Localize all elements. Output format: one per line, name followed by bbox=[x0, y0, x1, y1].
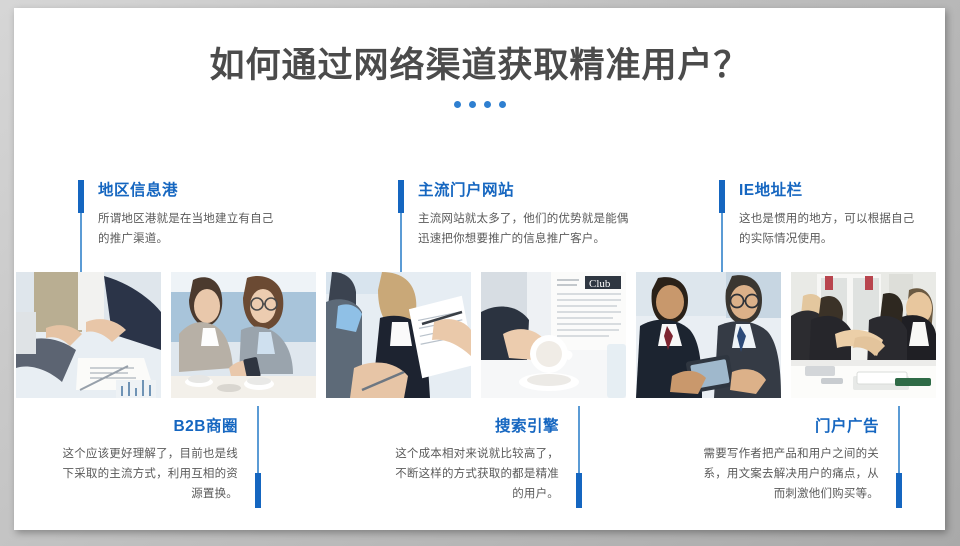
top-item-2-body: 主流网站就太多了，他们的优势就是能偶 迅速把你想要推广的信息推广客户。 bbox=[418, 209, 663, 249]
title-decoration-dots bbox=[14, 101, 945, 108]
bottom-item-2-heading: 搜索引擎 bbox=[359, 414, 559, 436]
photo-men-with-tablet bbox=[636, 272, 781, 398]
title-block: 如何通过网络渠道获取精准用户？ bbox=[14, 46, 945, 108]
bottom-item-1-body-line-2: 下采取的主流方式，利用互相的资 bbox=[38, 464, 238, 484]
bottom-item-2-body: 这个成本相对来说就比较高了， 不断这样的方式获取的都是精准 的用户。 bbox=[359, 444, 559, 504]
connector-line-bottom-2 bbox=[578, 406, 580, 473]
bottom-item-1-body: 这个应该更好理解了，目前也是线 下采取的主流方式，利用互相的资 源置换。 bbox=[38, 444, 238, 504]
connector-line-top-3 bbox=[721, 213, 723, 280]
bottom-item-2-body-line-3: 的用户。 bbox=[359, 484, 559, 504]
accent-bar-bottom-2 bbox=[576, 473, 582, 508]
accent-bar-bottom-1 bbox=[255, 473, 261, 508]
accent-bar-top-2 bbox=[398, 180, 404, 213]
photo-coffee-and-newspaper: Club bbox=[481, 272, 626, 398]
top-item-2[interactable]: 主流门户网站 主流网站就太多了，他们的优势就是能偶 迅速把你想要推广的信息推广客… bbox=[398, 178, 663, 249]
top-item-1-heading: 地区信息港 bbox=[98, 178, 308, 200]
bottom-item-1-body-line-1: 这个应该更好理解了，目前也是线 bbox=[38, 444, 238, 464]
bottom-item-1-heading: B2B商圈 bbox=[38, 414, 238, 436]
top-item-3-body-line-2: 的实际情况使用。 bbox=[739, 229, 944, 249]
top-item-3-body: 这也是惯用的地方，可以根据自己 的实际情况使用。 bbox=[739, 209, 944, 249]
bottom-item-3-body-line-3: 而刺激他们购买等。 bbox=[679, 484, 879, 504]
title-dot-1 bbox=[454, 101, 461, 108]
bottom-item-3-heading: 门户广告 bbox=[679, 414, 879, 436]
top-item-1-content: 地区信息港 所谓地区港就是在当地建立有自己 的推广渠道。 bbox=[98, 178, 308, 249]
connector-line-bottom-1 bbox=[257, 406, 259, 473]
top-item-1-body-line-1: 所谓地区港就是在当地建立有自己 bbox=[98, 209, 308, 229]
top-item-3-body-line-1: 这也是惯用的地方，可以根据自己 bbox=[739, 209, 944, 229]
bottom-item-3-body: 需要写作者把产品和用户之间的关 系，用文案去解决用户的痛点，从 而刺激他们购买等… bbox=[679, 444, 879, 504]
top-item-3-heading: IE地址栏 bbox=[739, 178, 944, 200]
top-item-2-content: 主流门户网站 主流网站就太多了，他们的优势就是能偶 迅速把你想要推广的信息推广客… bbox=[418, 178, 663, 249]
slide-canvas: 如何通过网络渠道获取精准用户？ 地区信息港 所谓地区港就是在当地建立有自己 的推… bbox=[14, 8, 945, 530]
bottom-item-3-body-line-1: 需要写作者把产品和用户之间的关 bbox=[679, 444, 879, 464]
connector-line-top-2 bbox=[400, 213, 402, 280]
top-item-2-body-line-1: 主流网站就太多了，他们的优势就是能偶 bbox=[418, 209, 663, 229]
top-item-1-body: 所谓地区港就是在当地建立有自己 的推广渠道。 bbox=[98, 209, 308, 249]
photo-handshake-over-documents bbox=[16, 272, 161, 398]
bottom-item-2-body-line-2: 不断这样的方式获取的都是精准 bbox=[359, 464, 559, 484]
bottom-item-1[interactable]: B2B商圈 这个应该更好理解了，目前也是线 下采取的主流方式，利用互相的资 源置… bbox=[38, 414, 263, 504]
bottom-item-3-body-line-2: 系，用文案去解决用户的痛点，从 bbox=[679, 464, 879, 484]
top-item-3[interactable]: IE地址栏 这也是惯用的地方，可以根据自己 的实际情况使用。 bbox=[719, 178, 944, 249]
bottom-item-2-body-line-1: 这个成本相对来说就比较高了， bbox=[359, 444, 559, 464]
top-item-1-body-line-2: 的推广渠道。 bbox=[98, 229, 308, 249]
top-item-2-body-line-2: 迅速把你想要推广的信息推广客户。 bbox=[418, 229, 663, 249]
title-dot-4 bbox=[499, 101, 506, 108]
accent-bar-top-1 bbox=[78, 180, 84, 213]
bottom-item-3-content: 门户广告 需要写作者把产品和用户之间的关 系，用文案去解决用户的痛点，从 而刺激… bbox=[679, 414, 879, 504]
photo-two-women-meeting bbox=[171, 272, 316, 398]
photo-boardroom-handshake bbox=[791, 272, 936, 398]
title-dot-2 bbox=[469, 101, 476, 108]
page-title: 如何通过网络渠道获取精准用户？ bbox=[14, 46, 945, 86]
accent-bar-top-3 bbox=[719, 180, 725, 213]
photo-strip: Club bbox=[16, 272, 945, 398]
bottom-item-2-content: 搜索引擎 这个成本相对来说就比较高了， 不断这样的方式获取的都是精准 的用户。 bbox=[359, 414, 559, 504]
accent-bar-bottom-3 bbox=[896, 473, 902, 508]
bottom-item-1-body-line-3: 源置换。 bbox=[38, 484, 238, 504]
top-item-1[interactable]: 地区信息港 所谓地区港就是在当地建立有自己 的推广渠道。 bbox=[78, 178, 308, 249]
svg-text:Club: Club bbox=[589, 278, 611, 290]
photo-people-reviewing-papers bbox=[326, 272, 471, 398]
title-dot-3 bbox=[484, 101, 491, 108]
bottom-item-1-content: B2B商圈 这个应该更好理解了，目前也是线 下采取的主流方式，利用互相的资 源置… bbox=[38, 414, 238, 504]
top-item-2-heading: 主流门户网站 bbox=[418, 178, 663, 200]
slide-frame: 如何通过网络渠道获取精准用户？ 地区信息港 所谓地区港就是在当地建立有自己 的推… bbox=[0, 0, 960, 546]
connector-line-top-1 bbox=[80, 213, 82, 280]
bottom-item-2[interactable]: 搜索引擎 这个成本相对来说就比较高了， 不断这样的方式获取的都是精准 的用户。 bbox=[359, 414, 584, 504]
top-item-3-content: IE地址栏 这也是惯用的地方，可以根据自己 的实际情况使用。 bbox=[739, 178, 944, 249]
connector-line-bottom-3 bbox=[898, 406, 900, 473]
bottom-item-3[interactable]: 门户广告 需要写作者把产品和用户之间的关 系，用文案去解决用户的痛点，从 而刺激… bbox=[679, 414, 904, 504]
